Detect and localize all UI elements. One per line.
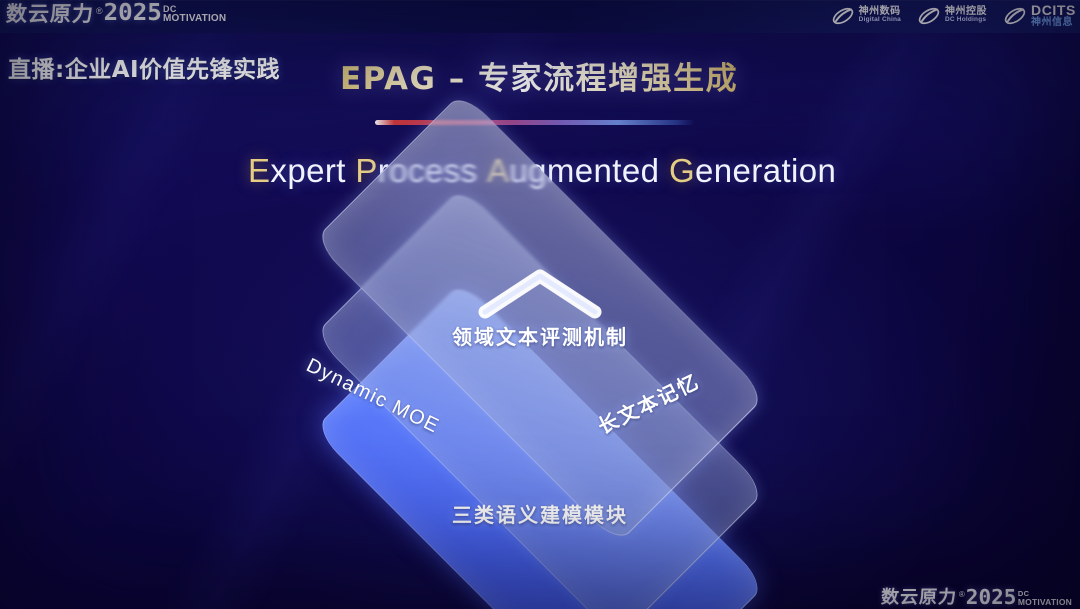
subtitle-rest-generation: eneration	[695, 152, 836, 189]
brand-dc-line2: MOTIVATION	[163, 14, 226, 24]
partner-logo-group: 神州数码 Digital China 神州控股 DC Holdings	[831, 3, 1076, 28]
brand-year: 2025	[103, 2, 161, 25]
brand-registered-mark: ®	[96, 7, 103, 16]
partner-logo-dc-holdings: 神州控股 DC Holdings	[917, 5, 987, 27]
gradient-divider	[375, 120, 695, 125]
subtitle-rest-expert: xpert	[270, 152, 345, 189]
footer-brand-dc-motivation: DC MOTIVATION	[1018, 590, 1072, 606]
brand-dc-motivation: DC MOTIVATION	[163, 5, 226, 24]
partner-logo-text: 神州数码 Digital China	[859, 7, 901, 24]
partner-logo-dcits: DCITS 神州信息	[1003, 3, 1076, 28]
brand-logo: 数云原力 ® 2025 DC MOTIVATION	[6, 2, 226, 25]
partner-name-en: Digital China	[859, 17, 901, 24]
footer-brand-registered-mark: ®	[959, 591, 965, 599]
slide-title: EPAG – 专家流程增强生成	[340, 53, 738, 98]
partner-logo-text: 神州控股 DC Holdings	[945, 7, 987, 24]
footer-watermark: 数云原力 ® 2025 DC MOTIVATION	[881, 587, 1072, 607]
footer-brand-dc-line2: MOTIVATION	[1018, 598, 1072, 607]
partner-name-en: DCITS	[1031, 3, 1076, 18]
live-broadcast-title: 直播:企业AI价值先锋实践	[8, 50, 280, 84]
layer-stack-diagram: 领域文本评测机制 Dynamic MOE 长文本记忆 三类语义建模模块	[228, 218, 852, 593]
brand-name-cn: 数云原力	[5, 4, 94, 25]
partner-name-en: DC Holdings	[945, 17, 987, 24]
swoosh-icon	[831, 5, 855, 27]
subtitle-cap-g: G	[669, 152, 695, 189]
header-band: 数云原力 ® 2025 DC MOTIVATION 神州数码 Digital C…	[0, 0, 1080, 33]
footer-brand-year: 2025	[966, 587, 1017, 607]
subtitle-cap-e: E	[248, 152, 270, 189]
partner-logo-digital-china: 神州数码 Digital China	[831, 5, 901, 27]
slide-canvas: 数云原力 ® 2025 DC MOTIVATION 神州数码 Digital C…	[0, 0, 1080, 609]
footer-brand-name-cn: 数云原力	[880, 589, 957, 607]
swoosh-icon	[1003, 5, 1027, 27]
swoosh-icon	[917, 5, 941, 27]
partner-name-cn: 神州信息	[1031, 18, 1076, 29]
partner-logo-text: DCITS 神州信息	[1031, 3, 1076, 28]
